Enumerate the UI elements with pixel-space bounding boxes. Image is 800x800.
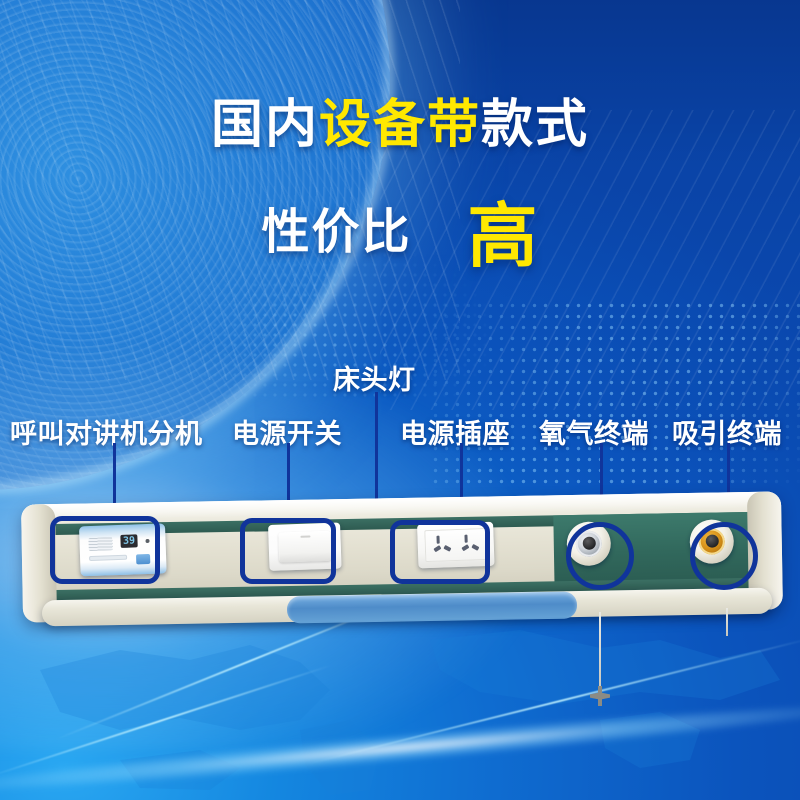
highlight-box-power-switch bbox=[240, 518, 336, 584]
headline-part-2: 设备带 bbox=[319, 82, 481, 157]
callout-label-power-socket: 电源插座 bbox=[400, 412, 510, 451]
callout-label-intercom: 呼叫对讲机分机 bbox=[10, 412, 203, 451]
callout-label-oxygen-terminal: 氧气终端 bbox=[539, 412, 649, 451]
highlight-box-intercom bbox=[50, 516, 160, 584]
subheadline-emphasis: 高 bbox=[468, 195, 539, 277]
panel-blue-rail-insert bbox=[287, 591, 577, 623]
subheadline-text: 性价比 bbox=[261, 204, 411, 260]
headline-line-2: 性价比高 bbox=[0, 168, 800, 269]
headline-line-1: 国内设备带款式 bbox=[0, 82, 800, 157]
highlight-box-suction-terminal bbox=[690, 522, 758, 590]
headline-part-1: 国内 bbox=[211, 82, 319, 157]
headline-part-3: 款式 bbox=[481, 82, 589, 157]
suction-hanging-cord bbox=[726, 608, 728, 636]
highlight-box-oxygen-terminal bbox=[566, 522, 634, 590]
poster-canvas: 国内设备带款式 性价比高 呼叫对讲机分机 电源开关 床头灯 电源插座 氧气终端 … bbox=[0, 0, 800, 800]
highlight-box-power-socket bbox=[390, 520, 490, 584]
oxygen-hanging-cord bbox=[599, 612, 601, 694]
